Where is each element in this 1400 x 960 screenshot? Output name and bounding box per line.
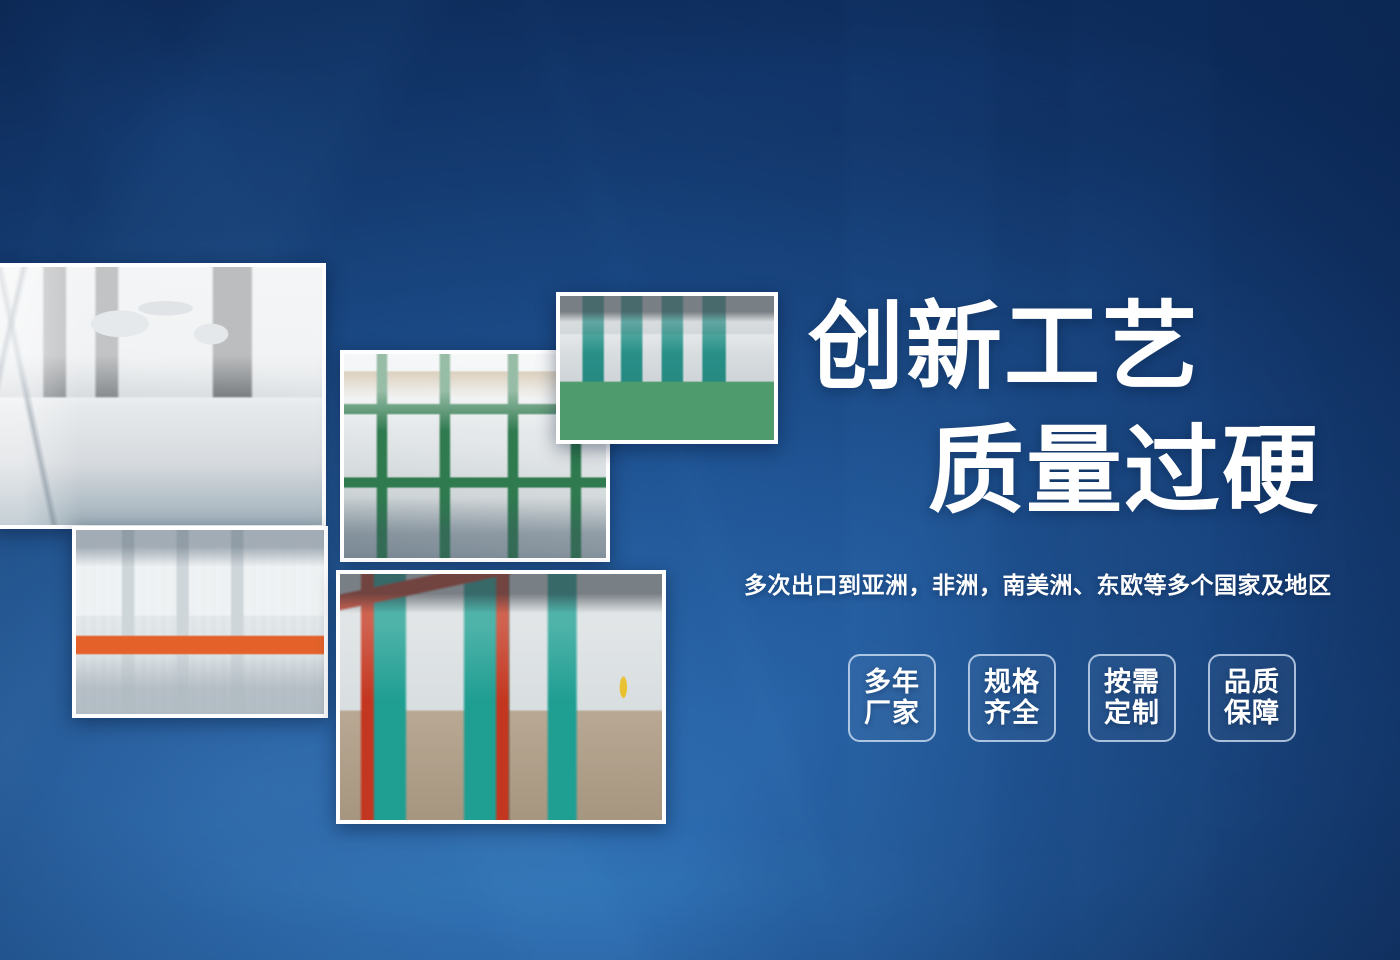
badge-line-1: 按需 <box>1104 667 1160 698</box>
photo-image-5 <box>340 574 662 820</box>
headline-line-1: 创新工艺 <box>808 300 1200 396</box>
badge-many-years-manufacturer: 多年 厂家 <box>848 654 936 742</box>
badge-line-2: 保障 <box>1224 698 1280 729</box>
headline-line-2: 质量过硬 <box>928 424 1320 520</box>
badge-custom-on-demand: 按需 定制 <box>1088 654 1176 742</box>
badge-line-2: 厂家 <box>864 698 920 729</box>
feature-badge-row: 多年 厂家 规格 齐全 按需 定制 品质 保障 <box>848 654 1296 742</box>
photo-frame-inner <box>560 296 774 440</box>
subtitle-export-regions: 多次出口到亚洲，非洲，南美洲、东欧等多个国家及地区 <box>744 566 1332 600</box>
badge-line-1: 品质 <box>1224 667 1280 698</box>
badge-line-2: 定制 <box>1104 698 1160 729</box>
badge-line-1: 规格 <box>984 667 1040 698</box>
photo-white-platform-with-orange-conveyor <box>72 526 328 718</box>
photo-grain-mill-line-with-ducting <box>0 263 326 529</box>
photo-frame-inner <box>76 530 324 714</box>
photo-image-2 <box>560 296 774 440</box>
photo-frame-inner <box>340 574 662 820</box>
photo-image-4 <box>76 530 324 714</box>
photo-frame-inner <box>0 267 322 525</box>
badge-full-specifications: 规格 齐全 <box>968 654 1056 742</box>
badge-line-2: 齐全 <box>984 698 1040 729</box>
photo-teal-milling-equipment-under-red-beams <box>336 570 666 824</box>
photo-image-1 <box>0 267 322 525</box>
badge-line-1: 多年 <box>864 667 920 698</box>
photo-teal-mills-on-green-floor <box>556 292 778 444</box>
promo-banner: 创新工艺 质量过硬 多次出口到亚洲，非洲，南美洲、东欧等多个国家及地区 多年 厂… <box>0 0 1400 960</box>
badge-quality-guarantee: 品质 保障 <box>1208 654 1296 742</box>
